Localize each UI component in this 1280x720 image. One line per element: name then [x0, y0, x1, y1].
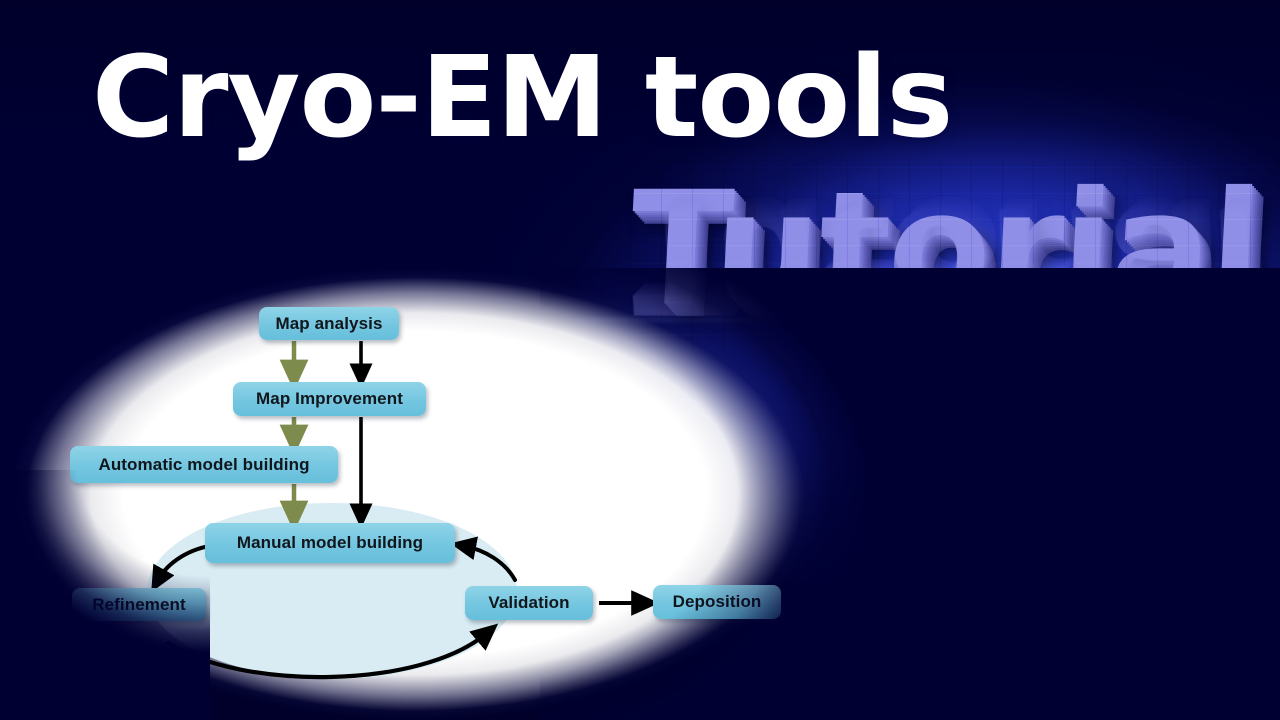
node-manual-model-building[interactable]: Manual model building — [205, 523, 455, 563]
node-automatic-model-building[interactable]: Automatic model building — [70, 446, 338, 483]
node-validation[interactable]: Validation — [465, 586, 593, 620]
slide-canvas: Tutorial Tutorial Cryo-EM tools — [0, 0, 1280, 720]
node-map-analysis[interactable]: Map analysis — [259, 307, 399, 340]
node-map-improvement[interactable]: Map Improvement — [233, 382, 426, 416]
node-deposition[interactable]: Deposition — [653, 585, 781, 619]
workflow-diagram: Map analysis Map Improvement Automatic m… — [0, 0, 1280, 720]
node-refinement[interactable]: Refinement — [72, 588, 206, 621]
